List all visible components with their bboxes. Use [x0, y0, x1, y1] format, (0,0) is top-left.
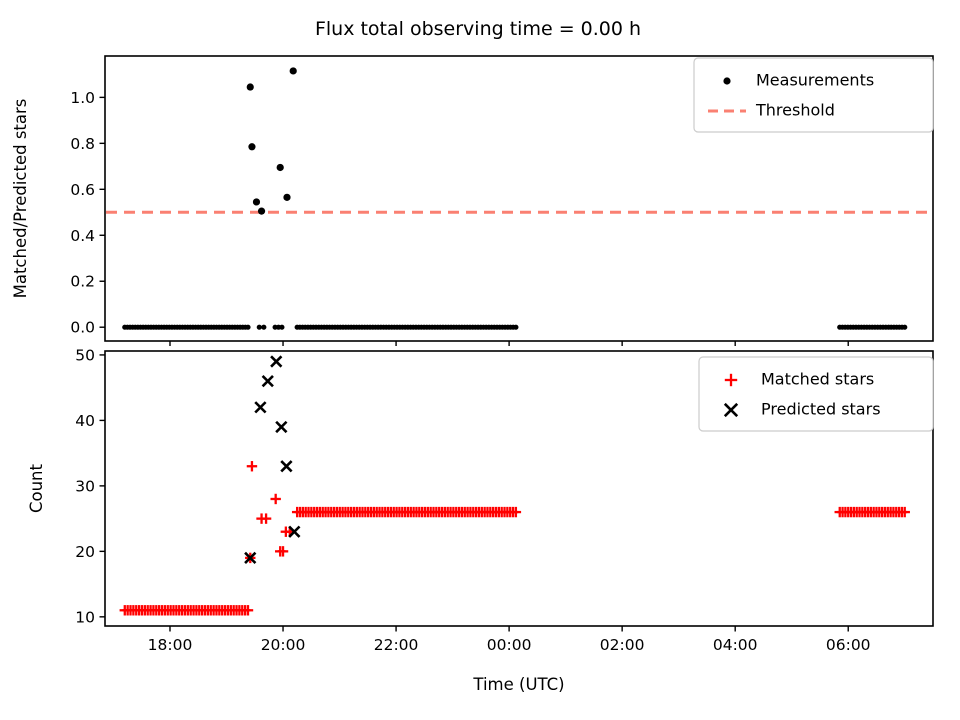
x-axis-label: Time (UTC) [472, 675, 564, 694]
x-tick-label: 18:00 [148, 636, 193, 654]
y-tick-label: 50 [75, 346, 95, 364]
matched-star-marker [251, 461, 253, 471]
measurement-point [257, 325, 262, 330]
measurement-point [253, 198, 260, 205]
legend-box [699, 357, 933, 431]
measurement-point [245, 325, 250, 330]
x-tick-label: 02:00 [600, 636, 645, 654]
measurement-point [279, 325, 284, 330]
y-tick-label: 0.6 [70, 181, 95, 199]
y-tick-label: 1.0 [70, 89, 95, 107]
matched-star-marker [265, 513, 267, 523]
matched-star-marker [275, 494, 277, 504]
legend-marker-dot [723, 77, 730, 84]
legend-label-matched-stars: Matched stars [761, 370, 874, 389]
matched-star-marker [247, 605, 249, 615]
measurement-point [283, 194, 290, 201]
x-tick-label: 00:00 [487, 636, 532, 654]
top-legend: MeasurementsThreshold [694, 58, 933, 132]
y-tick-label: 0.4 [70, 227, 95, 245]
matched-star-marker [282, 546, 284, 556]
measurement-point [902, 325, 907, 330]
x-tick-label: 20:00 [261, 636, 306, 654]
measurement-point [258, 208, 265, 215]
y-tick-label: 0.8 [70, 135, 95, 153]
y-tick-label: 0.0 [70, 319, 95, 337]
legend-box [694, 58, 933, 132]
matched-star-marker [904, 507, 906, 517]
y-tick-label: 20 [75, 543, 95, 561]
x-tick-label: 22:00 [374, 636, 419, 654]
y-tick-label: 30 [75, 477, 95, 495]
measurement-point [290, 67, 297, 74]
bottom-y-axis-label: Count [27, 463, 46, 513]
measurement-point [248, 143, 255, 150]
x-tick-label: 04:00 [713, 636, 758, 654]
bottom-legend: Matched starsPredicted stars [699, 357, 933, 431]
top-y-axis-label: Matched/Predicted stars [11, 99, 30, 299]
matplotlib-figure: Flux total observing time = 0.00 h 0.00.… [0, 0, 960, 720]
y-tick-label: 0.2 [70, 273, 95, 291]
legend-label-predicted-stars: Predicted stars [761, 400, 881, 419]
matched-star-marker [515, 507, 517, 517]
measurement-point [247, 83, 254, 90]
measurement-point [513, 325, 518, 330]
legend-label-measurements: Measurements [756, 71, 874, 90]
x-tick-label: 06:00 [826, 636, 871, 654]
legend-marker-plus [730, 374, 732, 386]
figure-title: Flux total observing time = 0.00 h [315, 18, 641, 40]
measurement-point [277, 164, 284, 171]
legend-label-threshold: Threshold [755, 101, 835, 120]
measurement-point [261, 325, 266, 330]
y-tick-label: 40 [75, 412, 95, 430]
y-tick-label: 10 [75, 608, 95, 626]
figure-canvas: Flux total observing time = 0.00 h 0.00.… [0, 0, 960, 720]
